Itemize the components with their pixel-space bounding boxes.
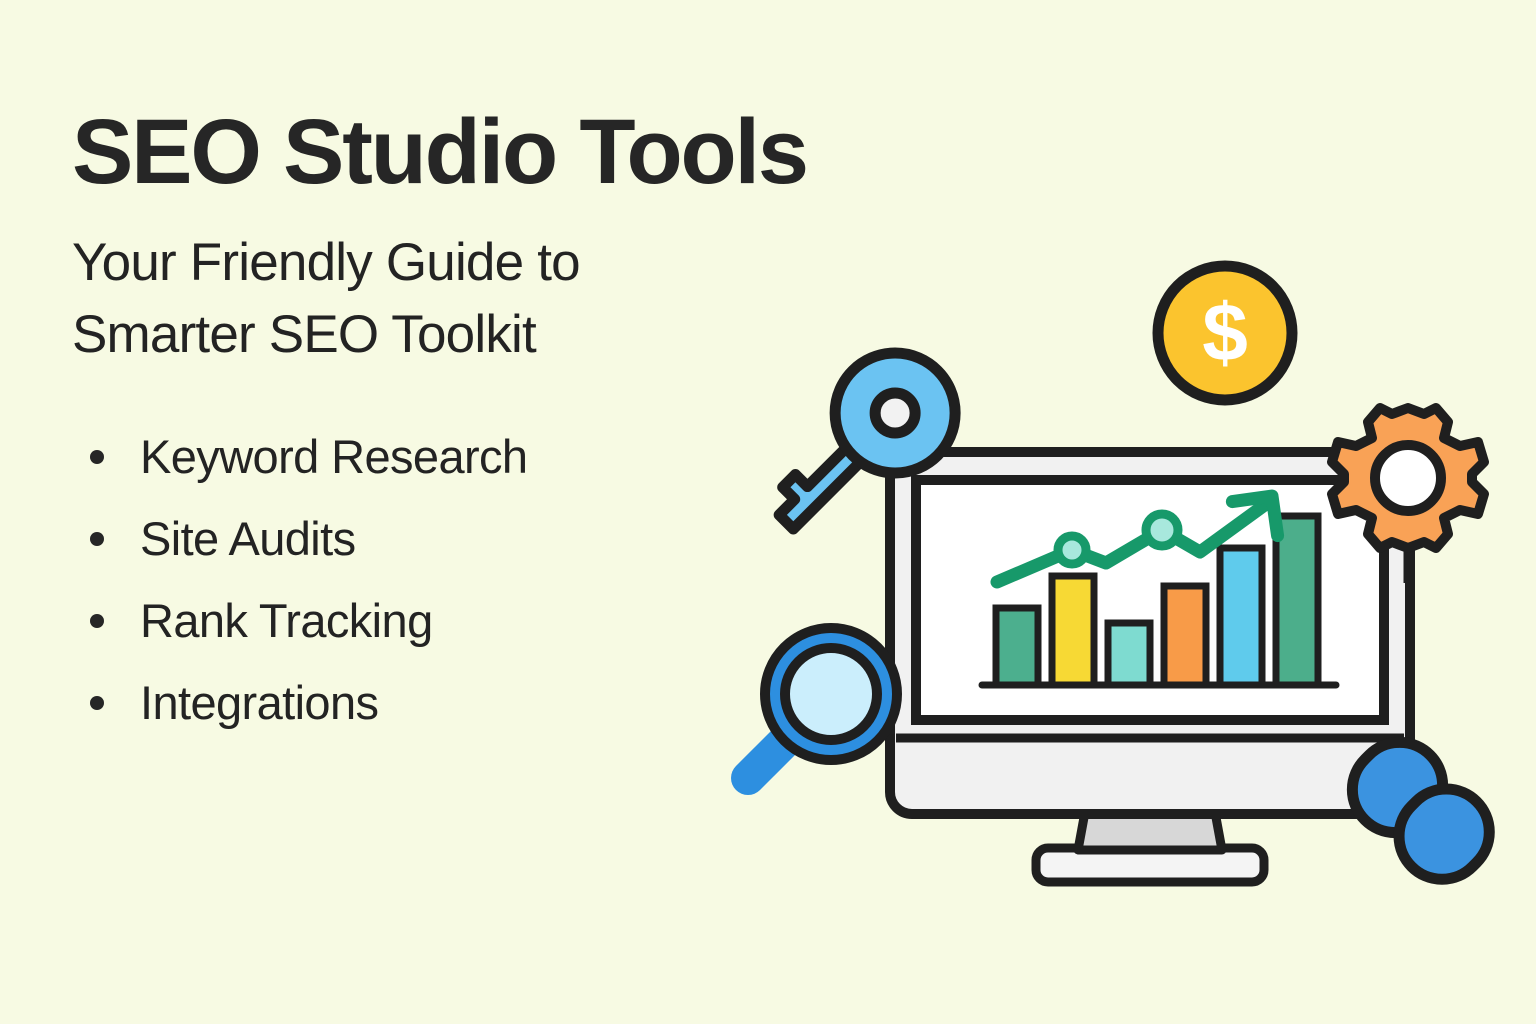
list-item-label: Rank Tracking — [140, 594, 433, 647]
chart-bar — [1108, 623, 1150, 685]
seo-illustration: $ — [700, 230, 1520, 910]
chart-bar — [1276, 516, 1318, 685]
chart-bar — [1164, 586, 1206, 685]
chart-bar — [996, 608, 1038, 685]
page-title: SEO Studio Tools — [72, 104, 852, 201]
list-item-label: Keyword Research — [140, 430, 527, 483]
bullet-dot-icon — [90, 614, 104, 628]
magnifier-icon — [748, 628, 897, 778]
trend-marker — [1146, 514, 1178, 546]
illustration-svg: $ — [700, 230, 1520, 910]
dollar-symbol: $ — [1202, 288, 1248, 379]
bullet-dot-icon — [90, 532, 104, 546]
bullet-dot-icon — [90, 696, 104, 710]
list-item-label: Integrations — [140, 676, 378, 729]
desktop-monitor-icon — [890, 452, 1410, 882]
chart-bar — [1220, 548, 1262, 685]
poster-canvas: SEO Studio Tools Your Friendly Guide to … — [0, 0, 1536, 1024]
chart-bar — [1052, 576, 1094, 685]
bullet-dot-icon — [90, 450, 104, 464]
trend-marker — [1058, 536, 1086, 564]
dollar-coin-icon: $ — [1158, 266, 1292, 400]
list-item-label: Site Audits — [140, 512, 355, 565]
magnifier-lens — [775, 638, 887, 750]
gear-center-hole — [1375, 445, 1441, 511]
